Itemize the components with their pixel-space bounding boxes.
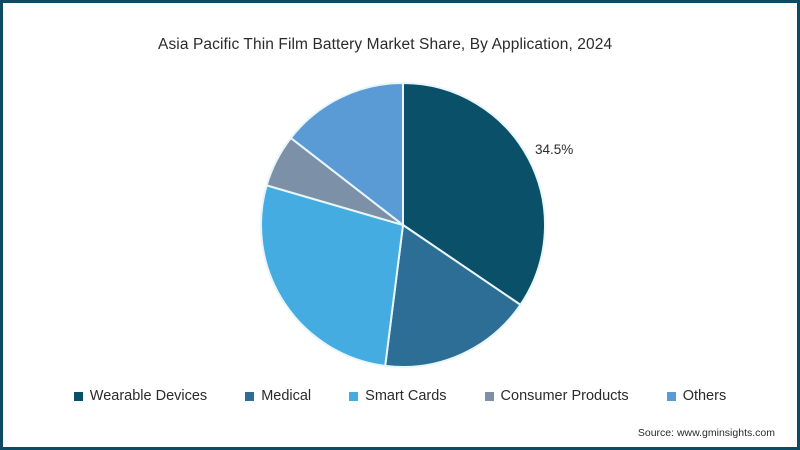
legend-item[interactable]: Wearable Devices bbox=[74, 388, 207, 404]
legend-item-label: Consumer Products bbox=[501, 388, 629, 404]
legend-swatch-icon bbox=[667, 392, 676, 401]
legend-swatch-icon bbox=[485, 392, 494, 401]
chart-legend: Wearable DevicesMedicalSmart CardsConsum… bbox=[3, 388, 797, 404]
legend-item-label: Medical bbox=[261, 388, 311, 404]
legend-item[interactable]: Medical bbox=[245, 388, 311, 404]
chart-title: Asia Pacific Thin Film Battery Market Sh… bbox=[158, 36, 612, 54]
legend-item-label: Others bbox=[683, 388, 727, 404]
pie-chart-svg bbox=[260, 82, 546, 368]
chart-frame: Asia Pacific Thin Film Battery Market Sh… bbox=[0, 0, 800, 450]
legend-swatch-icon bbox=[349, 392, 358, 401]
pie-chart bbox=[260, 82, 546, 368]
legend-swatch-icon bbox=[245, 392, 254, 401]
legend-item-label: Smart Cards bbox=[365, 388, 446, 404]
legend-item-label: Wearable Devices bbox=[90, 388, 207, 404]
legend-item[interactable]: Others bbox=[667, 388, 727, 404]
pie-slice-group bbox=[261, 83, 545, 367]
legend-item[interactable]: Smart Cards bbox=[349, 388, 446, 404]
legend-item[interactable]: Consumer Products bbox=[485, 388, 629, 404]
source-attribution: Source: www.gminsights.com bbox=[638, 427, 775, 439]
pie-slice-value-label: 34.5% bbox=[535, 142, 573, 157]
legend-swatch-icon bbox=[74, 392, 83, 401]
